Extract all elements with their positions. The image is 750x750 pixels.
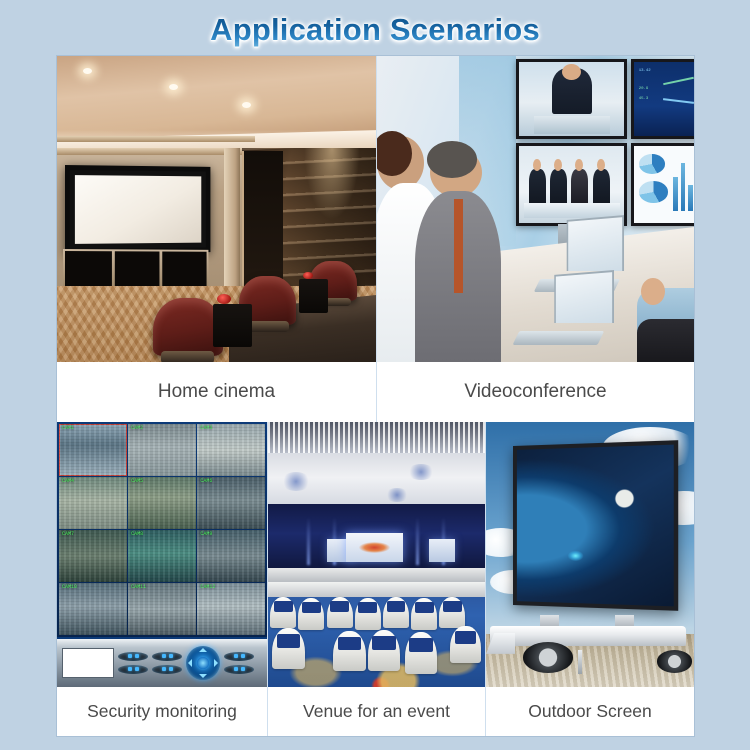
- venue-ceiling: [268, 422, 485, 512]
- outdoor-screen-photo: [486, 422, 694, 687]
- laptop-screen: [554, 270, 614, 323]
- dvr-button[interactable]: [118, 652, 148, 661]
- cabinet-panel: [115, 251, 160, 286]
- ceiling-light-icon: [242, 102, 251, 108]
- video-monitor-group: [516, 143, 627, 226]
- venue-chair: [450, 626, 480, 663]
- scenario-row-bottom: CAM1 CAM2 CAM3 CAM4 CAM5 CAM6 CAM7 CAM8 …: [57, 422, 694, 736]
- venue-seating: [268, 565, 485, 687]
- button-led-icon: [241, 667, 245, 671]
- monitor-feed-data: 13.42 20.9 45.3: [634, 62, 694, 136]
- chair-back-cover: [372, 636, 395, 650]
- cctv-feed[interactable]: CAM10: [59, 583, 127, 635]
- camera-timestamp: CAM11: [131, 584, 146, 590]
- camera-timestamp: CAM12: [200, 584, 215, 590]
- dvr-button[interactable]: [152, 665, 182, 674]
- attendee-right-suit: [637, 313, 694, 362]
- chevron-right-icon: [214, 659, 218, 667]
- venue-chair: [327, 597, 353, 629]
- remote-attendee: [529, 169, 546, 204]
- scenario-card-home-cinema[interactable]: Home cinema: [57, 56, 376, 422]
- scenario-caption-venue: Venue for an event: [268, 687, 485, 736]
- camera-timestamp: CAM7: [62, 531, 74, 537]
- data-readout: 20.9: [639, 87, 649, 91]
- dvr-button[interactable]: [118, 665, 148, 674]
- button-led-icon: [162, 654, 166, 658]
- cinema-side-table: [213, 304, 251, 347]
- camera-timestamp: CAM3: [200, 425, 212, 431]
- video-monitor-speaker: [516, 59, 627, 139]
- venue-chair: [272, 628, 305, 668]
- monitor-feed-speaker: [519, 62, 624, 136]
- camera-timestamp: CAM2: [131, 425, 143, 431]
- scenario-grid: Home cinema 13: [57, 56, 694, 736]
- screen-trailer: [486, 615, 694, 673]
- cctv-feed[interactable]: CAM7: [59, 530, 127, 582]
- venue-photo: [268, 422, 485, 687]
- venue-chair: [298, 598, 324, 630]
- seat-row-far: [268, 582, 485, 597]
- trend-line: [663, 77, 693, 85]
- seat-row-far: [268, 568, 485, 583]
- venue-chair: [355, 598, 381, 630]
- scenario-caption-home-cinema: Home cinema: [57, 362, 376, 422]
- camera-timestamp: CAM4: [62, 478, 74, 484]
- ceiling-light-icon: [83, 68, 92, 74]
- dvr-button[interactable]: [152, 652, 182, 661]
- pie-chart: [639, 154, 666, 174]
- cinema-side-table: [299, 279, 328, 313]
- ceiling-medallion: [385, 488, 409, 501]
- chevron-down-icon: [199, 674, 207, 678]
- chair-back-cover: [455, 631, 477, 643]
- led-screen-content-earth: [517, 444, 674, 606]
- trailer-wheel: [657, 650, 692, 672]
- dvr-navigation-dpad[interactable]: [186, 646, 220, 680]
- scenario-card-videoconference[interactable]: 13.42 20.9 45.3: [376, 56, 694, 422]
- dvr-button-group-left: [118, 652, 148, 674]
- venue-chair: [439, 597, 465, 629]
- stage-light-beam: [416, 517, 419, 565]
- podium: [534, 116, 610, 134]
- video-monitor-charts: [631, 143, 694, 226]
- button-led-icon: [234, 667, 238, 671]
- chair-back-cover: [443, 601, 462, 612]
- cctv-feed[interactable]: CAM9: [197, 530, 265, 582]
- camera-timestamp: CAM1: [62, 425, 74, 431]
- trailer-wheel: [523, 642, 573, 672]
- stage-side-screen: [429, 539, 455, 563]
- cabinet-panel: [65, 251, 112, 287]
- scenario-card-outdoor-screen[interactable]: Outdoor Screen: [485, 422, 694, 736]
- attendee-man-foreground: [415, 148, 501, 362]
- projection-screen-surface: [75, 175, 201, 244]
- camera-timestamp: CAM10: [62, 584, 77, 590]
- dvr-display: [62, 648, 114, 678]
- cctv-feed[interactable]: CAM2: [128, 424, 196, 476]
- data-readout: 45.3: [639, 97, 649, 101]
- trailer-bed: [490, 626, 686, 646]
- flower-decoration: [217, 294, 231, 304]
- chair-back-cover: [274, 601, 293, 612]
- led-screen: [513, 440, 678, 611]
- cctv-feed[interactable]: CAM3: [197, 424, 265, 476]
- application-scenarios-page: Application Scenarios: [0, 0, 750, 750]
- cctv-feed[interactable]: CAM11: [128, 583, 196, 635]
- venue-chair: [405, 632, 438, 673]
- chair-back-cover: [409, 638, 432, 652]
- dvr-button-group-right: [224, 652, 254, 674]
- page-title: Application Scenarios: [210, 12, 540, 48]
- monitor-feed-charts: [634, 146, 694, 223]
- button-led-icon: [162, 667, 166, 671]
- scenario-caption-videoconference: Videoconference: [377, 362, 694, 422]
- cabinet-panel: [163, 251, 207, 286]
- chair-back-cover: [277, 634, 300, 648]
- bar-chart-bar: [681, 163, 685, 210]
- remote-speaker-head: [562, 64, 581, 80]
- camera-timestamp: CAM8: [131, 531, 143, 537]
- venue-chair: [411, 598, 437, 630]
- attendee-hair: [427, 141, 477, 177]
- cctv-feed[interactable]: CAM1: [59, 424, 127, 476]
- venue-chair: [333, 631, 366, 671]
- laptop-base: [513, 331, 605, 345]
- venue-chair: [383, 597, 409, 629]
- attendee-head: [533, 159, 541, 171]
- attendee-head: [554, 159, 562, 171]
- chair-back-cover: [330, 601, 349, 612]
- data-readout: 13.42: [639, 69, 651, 73]
- cctv-feed[interactable]: CAM4: [59, 477, 127, 529]
- scenario-card-security-monitoring[interactable]: CAM1 CAM2 CAM3 CAM4 CAM5 CAM6 CAM7 CAM8 …: [57, 422, 267, 736]
- chevron-left-icon: [188, 659, 192, 667]
- remote-attendee: [571, 169, 588, 204]
- dvr-button-group-middle: [152, 652, 182, 674]
- trailer-support-leg: [578, 650, 582, 673]
- laptop-near: [516, 270, 617, 350]
- chair-back-cover: [415, 602, 434, 613]
- button-led-icon: [128, 667, 132, 671]
- attendee-head: [597, 159, 605, 171]
- bar-chart-bar: [673, 177, 677, 211]
- attendee-head: [575, 159, 583, 171]
- page-title-container: Application Scenarios: [0, 8, 750, 52]
- remote-attendee: [593, 169, 610, 204]
- laptop-screen: [567, 215, 625, 271]
- chair-back-cover: [302, 602, 321, 613]
- cctv-feed[interactable]: CAM12: [197, 583, 265, 635]
- camera-timestamp: CAM6: [200, 478, 212, 484]
- button-led-icon: [169, 654, 173, 658]
- cctv-feed[interactable]: CAM8: [128, 530, 196, 582]
- cinema-cabinet: [63, 249, 209, 289]
- cctv-feed[interactable]: CAM6: [197, 477, 265, 529]
- trend-line: [663, 98, 694, 104]
- attendee-sleeve: [637, 319, 694, 362]
- camera-timestamp: CAM5: [131, 478, 143, 484]
- attendee-tie: [454, 199, 463, 293]
- scenario-card-venue[interactable]: Venue for an event: [267, 422, 485, 736]
- bar-chart-bar: [688, 185, 692, 210]
- videoconference-photo: 13.42 20.9 45.3: [377, 56, 694, 362]
- chair-back-cover: [358, 602, 377, 613]
- button-led-icon: [135, 667, 139, 671]
- dvr-control-panel: [57, 637, 267, 687]
- scenario-caption-outdoor-screen: Outdoor Screen: [486, 687, 694, 736]
- cctv-multiview-grid: CAM1 CAM2 CAM3 CAM4 CAM5 CAM6 CAM7 CAM8 …: [57, 422, 267, 637]
- ceiling-light-icon: [169, 84, 178, 90]
- remote-attendee: [550, 169, 567, 204]
- button-led-icon: [241, 654, 245, 658]
- chair-back-cover: [338, 637, 361, 651]
- chair-back-cover: [387, 601, 406, 612]
- ceiling-medallion: [281, 472, 311, 491]
- button-led-icon: [234, 654, 238, 658]
- scenario-caption-security-monitoring: Security monitoring: [57, 687, 267, 736]
- button-led-icon: [135, 654, 139, 658]
- cinema-wall-trim: [57, 136, 255, 142]
- security-monitoring-photo: CAM1 CAM2 CAM3 CAM4 CAM5 CAM6 CAM7 CAM8 …: [57, 422, 267, 687]
- venue-chair: [270, 597, 296, 629]
- camera-timestamp: CAM9: [200, 531, 212, 537]
- cctv-feed[interactable]: CAM5: [128, 477, 196, 529]
- button-led-icon: [128, 654, 132, 658]
- scenario-row-top: Home cinema 13: [57, 56, 694, 422]
- video-monitor-data: 13.42 20.9 45.3: [631, 59, 694, 139]
- dvr-button[interactable]: [224, 665, 254, 674]
- venue-chair: [368, 630, 401, 671]
- home-cinema-photo: [57, 56, 376, 362]
- dvr-button[interactable]: [224, 652, 254, 661]
- stage-light-beam: [307, 517, 310, 565]
- monitor-feed-group: [519, 146, 624, 223]
- chevron-up-icon: [199, 648, 207, 652]
- projection-screen: [65, 165, 211, 254]
- button-led-icon: [169, 667, 173, 671]
- stage-main-screen: [346, 533, 402, 562]
- pie-chart: [639, 181, 668, 202]
